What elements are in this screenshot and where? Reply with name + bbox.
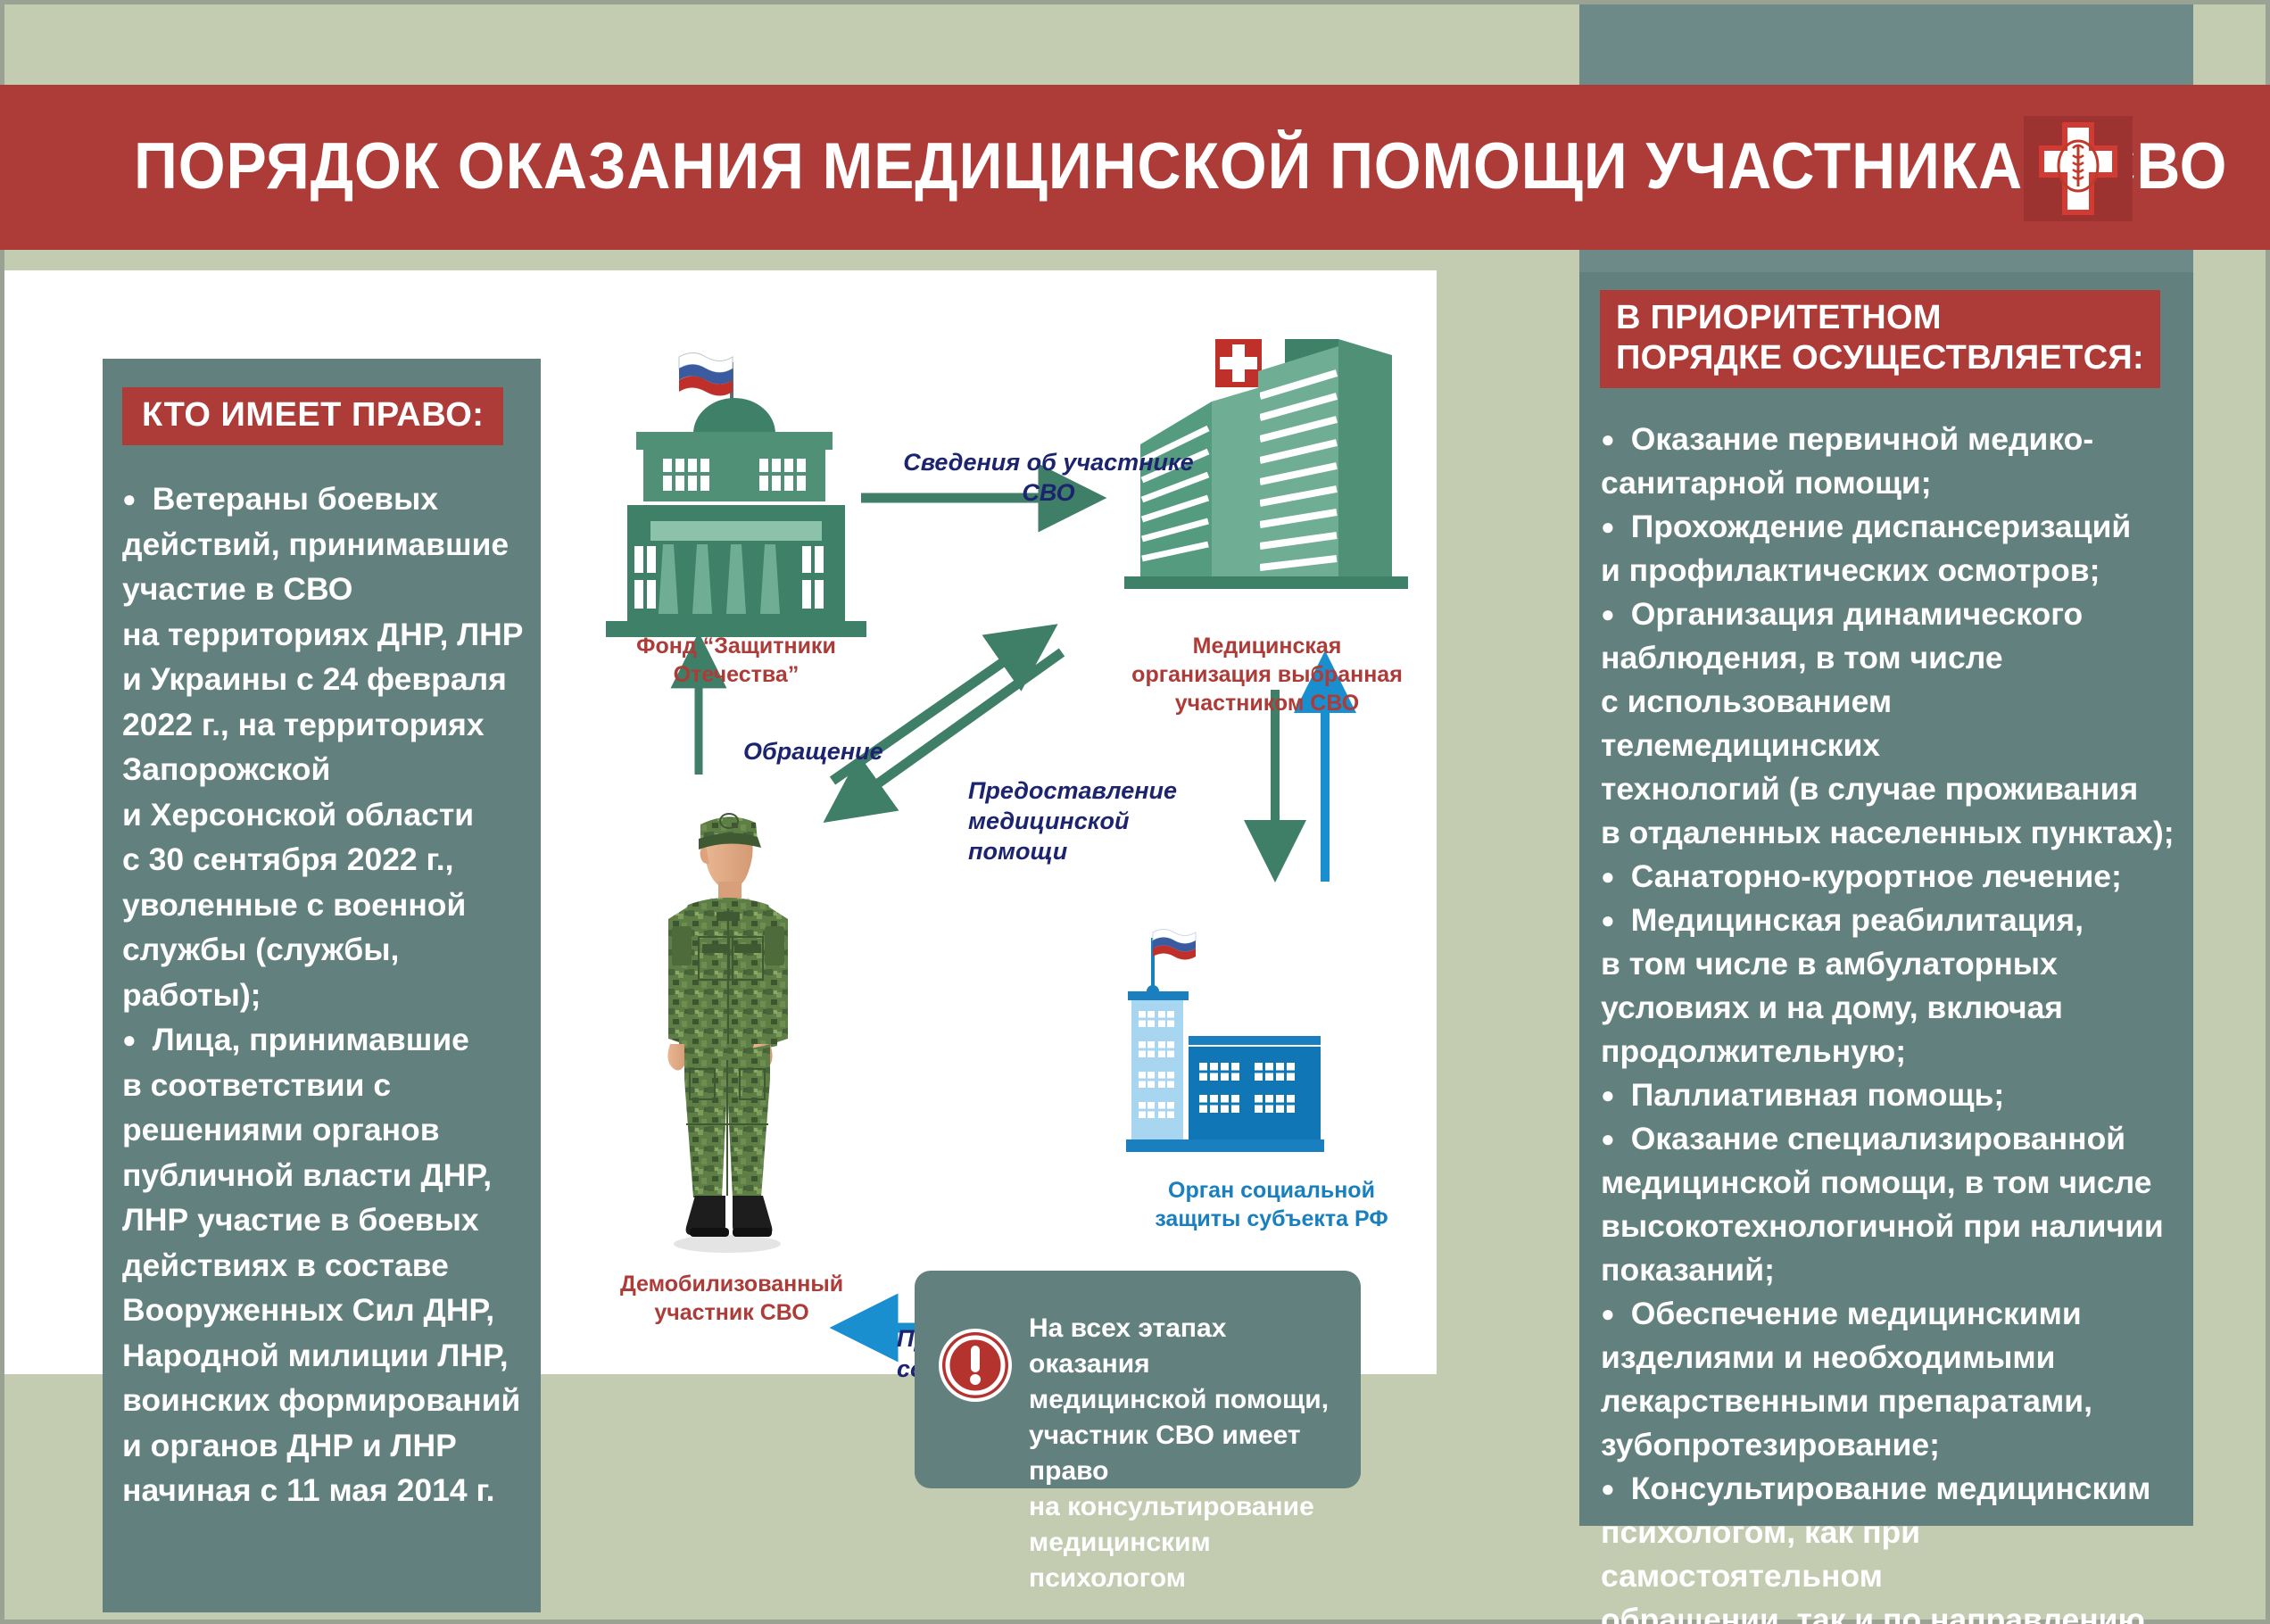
hospital-label-line3: участником СВО [1066, 689, 1468, 717]
soldier-label-line2: участник СВО [558, 1298, 906, 1327]
priority-item-line-24: психологом, как при самостоятельном [1601, 1511, 2179, 1598]
priority-item-line-9: ●Санаторно-курортное лечение; [1601, 855, 2179, 899]
eligibility-item-line-1: действий, принимавшие [122, 522, 528, 568]
priority-heading-line1: В ПРИОРИТЕТНОМ [1616, 298, 2144, 338]
priority-panel: В ПРИОРИТЕТНОМ ПОРЯДКЕ ОСУЩЕСТВЛЯЕТСЯ: ●… [1579, 272, 2193, 1526]
priority-item-line-18: показаний; [1601, 1248, 2179, 1292]
priority-heading: В ПРИОРИТЕТНОМ ПОРЯДКЕ ОСУЩЕСТВЛЯЕТСЯ: [1600, 290, 2160, 388]
bullet-icon: ● [1601, 907, 1615, 933]
priority-item-line-5: наблюдения, в том числе [1601, 636, 2179, 680]
eligibility-item-line-12: ●Лица, принимавшие [122, 1017, 528, 1063]
arrow-label-medical-line2: медицинской [968, 806, 1218, 836]
bullet-icon: ● [1601, 513, 1615, 540]
priority-item-line-13: продолжительную; [1601, 1030, 2179, 1073]
eligibility-item-line-5: 2022 г., на территориях [122, 702, 528, 748]
medical-cross-caduceus-emblem [2024, 116, 2133, 221]
priority-item-line-25: обращении, так и по направлению [1601, 1598, 2179, 1624]
eligibility-item-line-9: уволенные с военной [122, 882, 528, 928]
bullet-icon: ● [1601, 863, 1615, 890]
eligibility-item-line-20: воинских формирований [122, 1378, 528, 1423]
eligibility-item-line-4: и Украины с 24 февраля [122, 657, 528, 702]
soldier-figure-icon [629, 792, 825, 1256]
bullet-icon: ● [122, 485, 137, 512]
bullet-icon: ● [1601, 426, 1615, 452]
priority-item-line-16: медицинской помощи, в том числе [1601, 1161, 2179, 1205]
notice-text: На всех этапах оказания медицинской помо… [1029, 1311, 1346, 1596]
bullet-icon: ● [1601, 1300, 1615, 1327]
hospital-label-line2: организация выбранная [1066, 660, 1468, 689]
priority-item-line-20: изделиями и необходимыми [1601, 1336, 2179, 1380]
fund-label-line1: Фонд “Защитники [558, 632, 915, 660]
eligibility-heading: КТО ИМЕЕТ ПРАВО: [122, 387, 503, 445]
priority-item-line-11: в том числе в амбулаторных [1601, 942, 2179, 986]
fund-label: Фонд “Защитники Отечества” [558, 632, 915, 689]
social-authority-label: Орган социальной защиты субъекта РФ [1084, 1176, 1459, 1233]
eligibility-item-line-19: Народной милиции ЛНР, [122, 1333, 528, 1379]
soldier-label-line1: Демобилизованный [558, 1270, 906, 1298]
eligibility-item-line-2: участие в СВО [122, 567, 528, 612]
eligibility-item-line-14: решениями органов [122, 1107, 528, 1153]
priority-item-line-15: ●Оказание специализированной [1601, 1117, 2179, 1161]
arrow-label-appeal: Обращение [743, 736, 993, 766]
bullet-icon: ● [1601, 1475, 1615, 1502]
priority-item-line-1: санитарной помощи; [1601, 461, 2179, 505]
notice-box: На всех этапах оказания медицинской помо… [915, 1271, 1361, 1488]
notice-line2: медицинской помощи, [1029, 1382, 1346, 1418]
priority-item-line-12: условиях и на дому, включая [1601, 986, 2179, 1030]
priority-item-line-23: ●Консультирование медицинским [1601, 1467, 2179, 1511]
eligibility-item-line-22: начиная с 11 мая 2014 г. [122, 1468, 528, 1513]
priority-item-line-8: в отдаленных населенных пунктах); [1601, 811, 2179, 855]
arrow-label-medical: Предоставление медицинской помощи [968, 775, 1218, 866]
eligibility-item-line-3: на территориях ДНР, ЛНР [122, 612, 528, 658]
priority-item-line-4: ●Организация динамического [1601, 592, 2179, 636]
hospital-label: Медицинская организация выбранная участн… [1066, 632, 1468, 717]
eligibility-item-line-21: и органов ДНР и ЛНР [122, 1423, 528, 1469]
priority-list: ●Оказание первичной медико-санитарной по… [1601, 418, 2179, 1624]
bullet-icon: ● [122, 1026, 137, 1053]
government-building-icon [593, 346, 879, 676]
priority-item-line-2: ●Прохождение диспансеризаций [1601, 505, 2179, 549]
priority-item-line-19: ●Обеспечение медицинскими [1601, 1292, 2179, 1336]
social-label-line2: защиты субъекта РФ [1084, 1205, 1459, 1233]
arrow-label-info: Сведения об участнике СВО [879, 447, 1218, 508]
eligibility-item-line-7: и Херсонской области [122, 792, 528, 838]
notice-line3: участник СВО имеет право [1029, 1418, 1346, 1489]
eligibility-item-line-10: службы (службы, [122, 927, 528, 973]
eligibility-item-line-0: ●Ветераны боевых [122, 476, 528, 522]
priority-item-line-0: ●Оказание первичной медико- [1601, 418, 2179, 461]
eligibility-item-line-11: работы); [122, 973, 528, 1018]
notice-line5: медицинским психологом [1029, 1525, 1346, 1596]
eligibility-panel: КТО ИМЕЕТ ПРАВО: ●Ветераны боевыхдействи… [103, 359, 541, 1612]
poster-root: ПОРЯДОК ОКАЗАНИЯ МЕДИЦИНСКОЙ ПОМОЩИ УЧАС… [0, 0, 2270, 1624]
hospital-label-line1: Медицинская [1066, 632, 1468, 660]
priority-item-line-10: ●Медицинская реабилитация, [1601, 899, 2179, 942]
eligibility-item-line-17: действиях в составе [122, 1243, 528, 1288]
priority-item-line-22: зубопротезирование; [1601, 1423, 2179, 1467]
eligibility-item-line-8: с 30 сентября 2022 г., [122, 837, 528, 882]
priority-item-line-6: с использованием телемедицинских [1601, 680, 2179, 767]
priority-item-line-3: и профилактических осмотров; [1601, 549, 2179, 592]
social-label-line1: Орган социальной [1084, 1176, 1459, 1205]
soldier-label: Демобилизованный участник СВО [558, 1270, 906, 1327]
priority-item-line-21: лекарственными препаратами, [1601, 1380, 2179, 1423]
notice-line4: на консультирование [1029, 1489, 1346, 1525]
eligibility-list: ●Ветераны боевыхдействий, принимавшиеуча… [122, 476, 528, 1513]
priority-item-line-14: ●Паллиативная помощь; [1601, 1073, 2179, 1117]
office-building-icon [1124, 904, 1392, 1181]
arrow-label-medical-line3: помощи [968, 836, 1218, 866]
bullet-icon: ● [1601, 601, 1615, 627]
arrow-label-medical-line1: Предоставление [968, 775, 1218, 806]
eligibility-item-line-6: Запорожской [122, 747, 528, 792]
eligibility-item-line-13: в соответствии с [122, 1063, 528, 1108]
eligibility-item-line-15: публичной власти ДНР, [122, 1153, 528, 1198]
eligibility-item-line-18: Вооруженных Сил ДНР, [122, 1288, 528, 1333]
exclamation-circle-icon [936, 1326, 1015, 1404]
notice-line1: На всех этапах оказания [1029, 1311, 1346, 1382]
fund-label-line2: Отечества” [558, 660, 915, 689]
eligibility-item-line-16: ЛНР участие в боевых [122, 1197, 528, 1243]
priority-heading-line2: ПОРЯДКЕ ОСУЩЕСТВЛЯЕТСЯ: [1616, 338, 2144, 378]
priority-item-line-7: технологий (в случае проживания [1601, 767, 2179, 811]
page-title: ПОРЯДОК ОКАЗАНИЯ МЕДИЦИНСКОЙ ПОМОЩИ УЧАС… [134, 113, 1835, 220]
bullet-icon: ● [1601, 1081, 1615, 1108]
priority-item-line-17: высокотехнологичной при наличии [1601, 1205, 2179, 1248]
bullet-icon: ● [1601, 1125, 1615, 1152]
